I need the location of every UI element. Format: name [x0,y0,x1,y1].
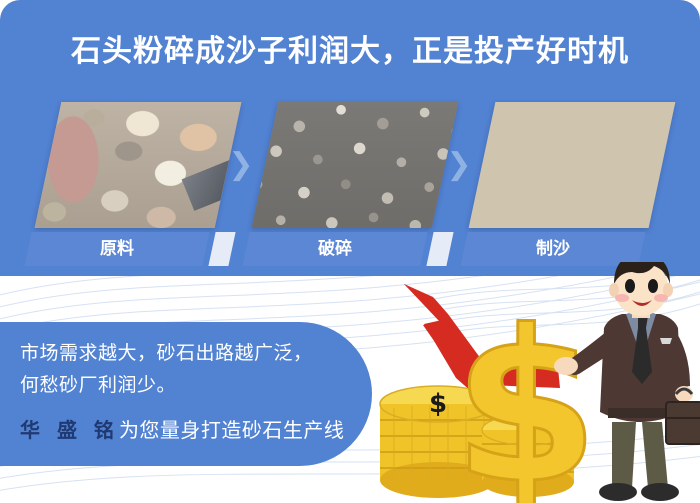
caption-divider [208,232,235,266]
process-image-crushing [252,102,459,228]
businessman-with-briefcase-illustration: $ $ $ [360,262,700,503]
process-image-raw-material [35,102,242,228]
process-label-text: 制沙 [464,232,642,266]
process-label-text: 原料 [28,232,206,266]
chevron-right-icon: ❯ [446,152,472,178]
chevron-right-icon: ❯ [228,152,254,178]
brand-line: 华 盛 铭为您量身打造砂石生产线 [20,414,344,443]
brand-name: 华 盛 铭 [20,418,119,442]
caption-divider [426,232,453,266]
message-line-2: 何愁砂厂利润少。 [20,370,176,397]
manufactured-sand-photo [469,102,676,228]
crushed-gravel-photo [252,102,459,228]
svg-text:$: $ [453,285,599,503]
process-label-raw-material: 原料 [24,232,209,266]
process-label-crushing: 破碎 [242,232,427,266]
process-label-text: 破碎 [246,232,424,266]
process-image-sand-making [469,102,676,228]
dollar-sign-icon: $ [453,285,599,503]
river-pebbles-photo [35,102,242,228]
message-panel: 市场需求越大，砂石出路越广泛， 何愁砂厂利润少。 华 盛 铭为您量身打造砂石生产… [0,322,372,466]
promotional-banner: 石头粉碎成沙子利润大，正是投产好时机 ❯ ❯ 原料 破碎 制沙 [0,0,700,503]
brand-tagline: 为您量身打造砂石生产线 [119,418,345,442]
message-line-1: 市场需求越大，砂石出路越广泛， [20,338,313,365]
header-block: 石头粉碎成沙子利润大，正是投产好时机 ❯ ❯ 原料 破碎 制沙 [0,0,700,276]
process-label-sand-making: 制沙 [460,232,645,266]
coin-dollar-symbol: $ [429,389,447,419]
page-title: 石头粉碎成沙子利润大，正是投产好时机 [0,26,700,70]
